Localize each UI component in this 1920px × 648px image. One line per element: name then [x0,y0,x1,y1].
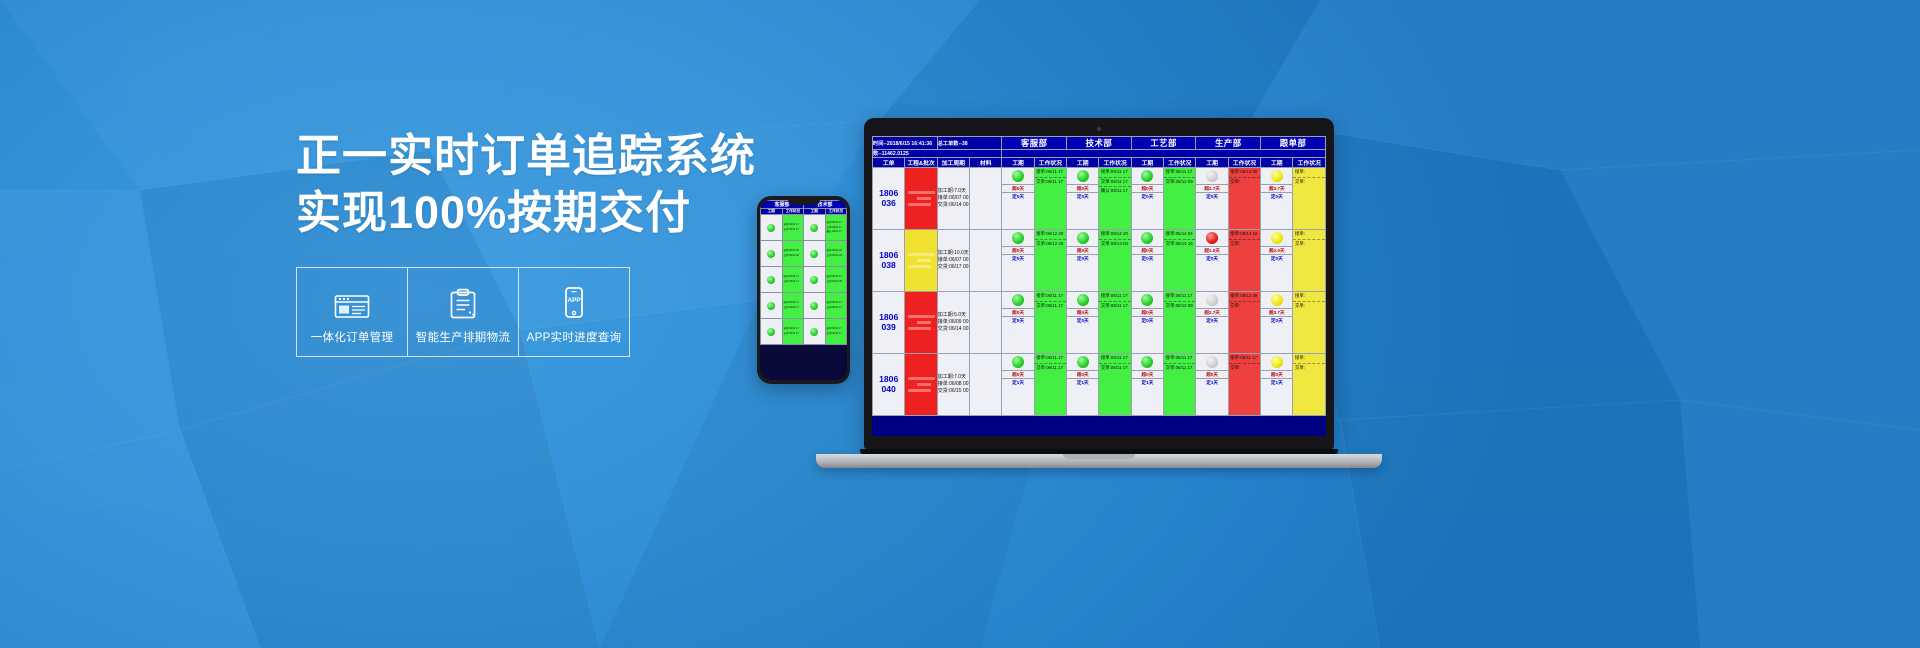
project-text-redacted [905,311,937,334]
dept-2-status-cell[interactable]: 接单:06/14 04交单:06/14 16 [1164,230,1196,292]
status-indicator-green [767,224,775,232]
received-date: 接单:06/07 00 [938,195,969,202]
feature-list: 一体化订单管理 智能生产排期物流 APP [296,267,766,357]
processing-cycle-cell: 加工期:7.0天接单:06/07 00交货:06/14 00 [937,168,969,230]
phone-dept-1-status-cell[interactable]: 接单:06/11 17交单:06/11 17 [825,293,847,319]
project-batch-cell [905,292,937,354]
status-line-0: 接单:06/11 17 [1099,354,1130,363]
dept-0-duration-cell[interactable]: 超0天定0天 [1002,168,1034,230]
overdue-label: 超2.7天 [1196,308,1227,316]
status-indicator-green [1012,170,1024,182]
fixed-label: 定1天 [1261,378,1292,386]
phone-dept-0-duration-cell[interactable] [761,241,783,267]
table-row[interactable]: 1806039加工期:5.0天接单:06/09 00交货:06/14 00超0天… [873,292,1326,354]
feature-app-progress-query[interactable]: APP APP实时进度查询 [518,267,630,357]
page-title: 正一实时订单追踪系统 实现100%按期交付 [296,128,766,241]
phone-dept-0-status-cell[interactable]: 接单:06/11 17交单:06/11 17 [782,293,804,319]
status-line-1: 交单: [1229,301,1260,311]
dept-1-status-cell[interactable]: 接单:06/11 17交单:06/11 17确认:06/11 17 [1099,168,1131,230]
phone-table-body[interactable]: 接单:06/11 17交单:06/11 17接单:06/11 17交单:06/1… [761,215,847,345]
dept-2-status-cell[interactable]: 接单:06/11 17交单:06/11 17 [1164,354,1196,416]
dept-0-status-cell[interactable]: 接单:06/11 17交单:06/11 17 [1034,354,1066,416]
received-date: 接单:06/08 00 [938,381,969,388]
dashboard-time: 时间--2018/6/15 16:41:36 [873,137,938,150]
table-row[interactable]: 1806036加工期:7.0天接单:06/07 00交货:06/14 00超0天… [873,168,1326,230]
dept-0-duration-cell[interactable]: 超0天定1天 [1002,354,1034,416]
status-line-1: 交单:06/12 09 [1164,301,1195,311]
overdue-label: 超0天 [1132,184,1163,192]
status-line-0: 接单:06/11 17 [1099,292,1130,301]
order-number-cell: 1806036 [873,168,905,230]
dept-4-duration-cell[interactable]: 超3.7天定0天 [1261,292,1293,354]
overdue-label: 超3.7天 [1261,184,1292,192]
dept-header-2: 工艺部 [1131,137,1196,150]
dept-0-col-1: 工作状况 [1034,158,1066,168]
dept-3-status-cell[interactable]: 接单:06/12 09交单: [1228,292,1260,354]
status-line-0: 接单:06/12 20 [1099,230,1130,239]
status-indicator-green [810,302,818,310]
status-line-1: 交单:06/14 04 [1099,239,1130,249]
phone-status-line-1: 交单:06/11 17 [783,306,804,311]
dept-3-status-cell[interactable]: 接单:06/11 17交单: [1228,354,1260,416]
dashboard-subheader-row: 工单工程&批次加工周期材料工期工作状况工期工作状况工期工作状况工期工作状况工期工… [873,158,1326,168]
status-line-1: 交单:06/12 20 [1035,239,1066,249]
status-line-0: 接单:06/11 17 [1035,354,1066,363]
dept-1-duration-cell[interactable]: 超0天定0天 [1067,230,1099,292]
status-line-0: 接单:06/11 17 [1099,168,1130,177]
status-indicator-gray [1206,294,1218,306]
phone-dept-0-status-cell[interactable]: 接单:06/11 17交单:06/11 17 [782,215,804,241]
order-no-bottom: 036 [873,199,904,208]
status-line-0: 接单:06/14 04 [1164,230,1195,239]
phone-dept-1-duration-cell[interactable] [804,267,826,293]
cycle-days: 加工期:7.0天 [938,374,969,381]
dept-header-0: 客服部 [1002,137,1067,150]
browser-window-icon [334,280,370,320]
dept-1-duration-cell[interactable]: 超0天定1天 [1067,354,1099,416]
dept-header-3: 生产部 [1196,137,1261,150]
headline-line-2: 实现100%按期交付 [296,185,766,242]
fixed-label: 定1天 [1132,378,1163,386]
fixed-label: 定0天 [1261,254,1292,262]
dept-2-status-cell[interactable]: 接单:06/11 17交单:06/12 09 [1164,292,1196,354]
overdue-label: 超0天 [1132,370,1163,378]
phone-table-row[interactable]: 接单:06/11 17交单:06/11 17接单:06/11 17交单:06/1… [761,215,847,241]
status-line-0: 接单:06/12 20 [1035,230,1066,239]
status-indicator-green [1141,294,1153,306]
phone-dept-1-duration-cell[interactable] [804,241,826,267]
fixed-label: 定0天 [1261,192,1292,200]
dept-4-duration-cell[interactable]: 超3.7天定0天 [1261,168,1293,230]
status-line-0: 接单: [1293,168,1325,177]
phone-dept-1-duration-cell[interactable] [804,215,826,241]
dept-2-col-1: 工作状况 [1164,158,1196,168]
fixed-label: 定0天 [1067,316,1098,324]
fixed-label: 定0天 [1196,254,1227,262]
status-indicator-yellow [1271,356,1283,368]
laptop-base [816,454,1382,468]
dept-1-col-1: 工作状况 [1099,158,1131,168]
fixed-label: 定1天 [1002,378,1033,386]
dept-0-duration-cell[interactable]: 超0天定0天 [1002,230,1034,292]
project-text-redacted [905,373,937,396]
phone-dept-0-duration-cell[interactable] [761,319,783,345]
phone-dept-1-status-cell[interactable]: 接单:06/12 20交单:06/14 04 [825,241,847,267]
phone-status-line-1: 交单:06/12 20 [783,254,804,259]
dept-0-col-0: 工期 [1002,158,1034,168]
laptop-screen[interactable]: 时间--2018/6/15 16:41:36 总工单数--38 客服部 技术部 … [872,136,1326,436]
status-line-1: 交单:06/11 17 [1164,363,1195,373]
dept-0-status-cell[interactable]: 接单:06/12 20交单:06/12 20 [1034,230,1066,292]
dept-4-duration-cell[interactable]: 超0天定1天 [1261,354,1293,416]
status-line-0: 接单: [1293,292,1325,301]
dashboard-meta-row-2: 数--11462.0125 [873,150,1326,158]
status-indicator-green [1077,232,1089,244]
status-indicator-yellow [1271,170,1283,182]
status-line-0: 接单: [1293,354,1325,363]
dashboard-total: 总工单数--38 [937,137,1002,150]
fixed-label: 定1天 [1067,378,1098,386]
dashboard-meta-row: 时间--2018/6/15 16:41:36 总工单数--38 客服部 技术部 … [873,137,1326,150]
delivery-date: 交货:06/15 00 [938,388,969,395]
dept-2-duration-cell[interactable]: 超0天定0天 [1131,168,1163,230]
phone-status-line-1: 交单:06/11 17 [826,332,847,337]
fixed-label: 定0天 [1132,316,1163,324]
overdue-label: 超0天 [1196,370,1227,378]
status-indicator-yellow [1271,232,1283,244]
order-no-bottom: 040 [873,385,904,394]
phone-dept-0-status-cell[interactable]: 接单:06/11 17交单:06/11 17 [782,319,804,345]
fixed-label: 定0天 [1196,316,1227,324]
dept-3-col-1: 工作状况 [1228,158,1260,168]
overdue-label: 超3.7天 [1261,308,1292,316]
status-indicator-green [1012,356,1024,368]
status-indicator-yellow [1271,294,1283,306]
project-batch-cell [905,230,937,292]
status-line-1: 交单: [1293,301,1325,311]
phone-dept-0-duration-cell[interactable] [761,267,783,293]
delivery-date: 交货:06/14 00 [938,326,969,333]
status-line-0: 接单:06/14 16 [1229,230,1260,239]
overdue-label: 超0天 [1067,184,1098,192]
status-line-0: 接单:06/11 17 [1229,354,1260,363]
dept-4-status-cell[interactable]: 接单:交单: [1293,230,1326,292]
status-line-0: 接单:06/11 17 [1164,168,1195,177]
received-date: 接单:06/07 00 [938,257,969,264]
status-indicator-green [1141,170,1153,182]
dept-1-status-cell[interactable]: 接单:06/11 17交单:06/11 17 [1099,292,1131,354]
feature-production-scheduling[interactable]: 智能生产排期物流 [407,267,518,357]
phone-dept-0-status-cell[interactable]: 接单:06/11 17交单:06/11 17 [782,267,804,293]
phone-dept-0-status-cell[interactable]: 接单:06/12 20交单:06/12 20 [782,241,804,267]
table-row[interactable]: 1806040加工期:7.0天接单:06/08 00交货:06/15 00超0天… [873,354,1326,416]
phone-dept-1-status-cell[interactable]: 接单:06/11 17交单:06/11 17 [825,319,847,345]
status-line-1: 交单: [1229,363,1260,373]
dept-4-status-cell[interactable]: 接单:交单: [1293,168,1326,230]
status-line-1: 交单:06/11 17 [1099,301,1130,311]
status-line-1: 交单:06/11 17 [1035,363,1066,373]
dept-3-duration-cell[interactable]: 超2.7天定0天 [1196,168,1228,230]
status-line-2: 确认:06/11 17 [1099,186,1130,196]
phone-status-line-1: 交单:06/12 09 [826,280,847,285]
status-line-1: 交单: [1293,239,1325,249]
order-number-cell: 1806039 [873,292,905,354]
project-text-redacted [905,249,937,272]
status-indicator-green [767,328,775,336]
overdue-label: 超0天 [1002,184,1033,192]
processing-cycle-cell: 加工期:5.0天接单:06/09 00交货:06/14 00 [937,292,969,354]
overdue-label: 超2.0天 [1261,246,1292,254]
overdue-label: 超0天 [1067,246,1098,254]
dept-4-status-cell[interactable]: 接单:交单: [1293,354,1326,416]
dept-1-status-cell[interactable]: 接单:06/12 20交单:06/14 04 [1099,230,1131,292]
phone-status-line-1: 交单:06/11 17 [783,280,804,285]
delivery-date: 交货:06/14 00 [938,202,969,209]
status-line-0: 接单:06/11 17 [1035,168,1066,177]
dept-2-duration-cell[interactable]: 超0天定0天 [1131,292,1163,354]
fixed-label: 定0天 [1196,192,1227,200]
dept-2-duration-cell[interactable]: 超0天定1天 [1131,354,1163,416]
dept-0-status-cell[interactable]: 接单:06/11 17交单:06/11 17 [1034,292,1066,354]
phone-table-row[interactable]: 接单:06/12 20交单:06/12 20接单:06/12 20交单:06/1… [761,241,847,267]
dept-3-col-0: 工期 [1196,158,1228,168]
processing-cycle-cell: 加工期:7.0天接单:06/08 00交货:06/15 00 [937,354,969,416]
order-no-bottom: 038 [873,261,904,270]
delivery-date: 交货:06/17 00 [938,264,969,271]
fixed-label: 定0天 [1067,192,1098,200]
laptop-lid: 时间--2018/6/15 16:41:36 总工单数--38 客服部 技术部 … [864,118,1334,449]
status-line-1: 交单:06/11 17 [1099,177,1130,187]
phone-dept-1-duration-cell[interactable] [804,319,826,345]
phone-table-row[interactable]: 接单:06/11 17交单:06/11 17接单:06/11 17交单:06/1… [761,319,847,345]
phone-dept-0-duration-cell[interactable] [761,215,783,241]
dept-4-status-cell[interactable]: 接单:交单: [1293,292,1326,354]
phone-table-row[interactable]: 接单:06/11 17交单:06/11 17接单:06/11 17交单:06/1… [761,267,847,293]
dept-1-status-cell[interactable]: 接单:06/11 17交单:06/11 17 [1099,354,1131,416]
phone-status-line-1: 交单:06/11 17 [783,228,804,233]
dept-1-duration-cell[interactable]: 超0天定0天 [1067,292,1099,354]
received-date: 接单:06/09 00 [938,319,969,326]
phone-screen[interactable]: 客服部 技术部 工期 工作状况 工期 工作状况 接单:06/11 17交单:06… [760,200,847,380]
status-line-1: 交单:06/11 17 [1035,177,1066,187]
overdue-label: 超0天 [1132,308,1163,316]
fixed-label: 定0天 [1132,192,1163,200]
headline-line-1: 正一实时订单追踪系统 [296,128,766,185]
status-line-1: 交单:06/14 16 [1164,239,1195,249]
overdue-label: 超0天 [1002,308,1033,316]
project-batch-cell [905,168,937,230]
fixed-label: 定0天 [1002,254,1033,262]
status-indicator-green [810,250,818,258]
phone-status-line-1: 交单:06/11 17 [783,332,804,337]
phone-dept-1-duration-cell[interactable] [804,293,826,319]
phone-notch [788,200,820,205]
status-line-1: 交单: [1293,177,1325,187]
dept-4-col-0: 工期 [1261,158,1293,168]
dept-3-duration-cell[interactable]: 超2.7天定0天 [1196,292,1228,354]
status-indicator-red [1206,232,1218,244]
table-row[interactable]: 1806038加工期:10.0天接单:06/07 00交货:06/17 00超0… [873,230,1326,292]
status-indicator-green [1141,356,1153,368]
status-indicator-green [810,276,818,284]
fixed-label: 定0天 [1261,316,1292,324]
phone-dept-0-duration-cell[interactable] [761,293,783,319]
phone-status-line-2: 确认:06/11 17 [826,230,847,235]
dept-2-duration-cell[interactable]: 超0天定0天 [1131,230,1163,292]
overdue-label: 超0天 [1132,246,1163,254]
col-header-2: 加工周期 [937,158,969,168]
status-line-1: 交单:06/12 09 [1164,177,1195,187]
status-indicator-green [810,328,818,336]
status-indicator-gray [1206,356,1218,368]
dashboard-table-head: 时间--2018/6/15 16:41:36 总工单数--38 客服部 技术部 … [873,137,1326,168]
phone-table-row[interactable]: 接单:06/11 17交单:06/11 17接单:06/11 17交单:06/1… [761,293,847,319]
overdue-label: 超0天 [1261,370,1292,378]
project-batch-cell [905,354,937,416]
clipboard-icon [448,280,478,320]
svg-text:APP: APP [567,297,581,304]
status-line-1: 交单: [1229,177,1260,187]
laptop-mockup: 时间--2018/6/15 16:41:36 总工单数--38 客服部 技术部 … [864,118,1334,468]
dashboard-table-body[interactable]: 1806036加工期:7.0天接单:06/07 00交货:06/14 00超0天… [873,168,1326,416]
dept-2-status-cell[interactable]: 接单:06/11 17交单:06/12 09 [1164,168,1196,230]
dept-1-col-0: 工期 [1067,158,1099,168]
status-line-1: 交单: [1293,363,1325,373]
dept-4-duration-cell[interactable]: 超2.0天定0天 [1261,230,1293,292]
dept-header-4: 跟单部 [1261,137,1326,150]
overdue-label: 超1.0天 [1196,246,1227,254]
col-header-1: 工程&批次 [905,158,937,168]
status-indicator-green [767,250,775,258]
dept-3-duration-cell[interactable]: 超0天定1天 [1196,354,1228,416]
material-cell [970,354,1002,416]
status-line-0: 接单:06/11 17 [1035,292,1066,301]
feature-label: 智能生产排期物流 [416,329,510,345]
dept-0-duration-cell[interactable]: 超0天定0天 [1002,292,1034,354]
phone-status-line-1: 交单:06/14 04 [826,254,847,259]
fixed-label: 定0天 [1132,254,1163,262]
phone-status-line-1: 交单:06/11 17 [826,306,847,311]
status-indicator-green [1077,356,1089,368]
material-cell [970,168,1002,230]
phone-dept-1-status-cell[interactable]: 接单:06/11 17交单:06/12 09 [825,267,847,293]
overdue-label: 超0天 [1002,370,1033,378]
fixed-label: 定0天 [1002,192,1033,200]
status-line-1: 交单: [1229,239,1260,249]
status-indicator-green [767,302,775,310]
phone-dept-1-status-cell[interactable]: 接单:06/11 17交单:06/11 17确认:06/11 17 [825,215,847,241]
dept-4-col-1: 工作状况 [1293,158,1326,168]
phone-dashboard-table[interactable]: 客服部 技术部 工期 工作状况 工期 工作状况 接单:06/11 17交单:06… [760,200,847,345]
webcam-icon [1097,127,1101,131]
dept-2-col-0: 工期 [1131,158,1163,168]
dept-3-duration-cell[interactable]: 超1.0天定0天 [1196,230,1228,292]
dept-header-spacer [1002,150,1326,158]
order-no-bottom: 039 [873,323,904,332]
feature-label: APP实时进度查询 [527,329,622,345]
status-indicator-green [1012,294,1024,306]
status-indicator-green [810,224,818,232]
status-line-0: 接单:06/12 09 [1229,168,1260,177]
order-number-cell: 1806038 [873,230,905,292]
processing-cycle-cell: 加工期:10.0天接单:06/07 00交货:06/17 00 [937,230,969,292]
feature-label: 一体化订单管理 [311,329,394,345]
dept-3-status-cell[interactable]: 接单:06/12 09交单: [1228,168,1260,230]
dept-header-1: 技术部 [1067,137,1132,150]
status-indicator-green [1012,232,1024,244]
dept-0-status-cell[interactable]: 接单:06/11 17交单:06/11 17 [1034,168,1066,230]
status-indicator-green [767,276,775,284]
fixed-label: 定0天 [1002,316,1033,324]
status-line-0: 接单:06/11 17 [1164,354,1195,363]
fixed-label: 定1天 [1196,378,1227,386]
fixed-label: 定0天 [1067,254,1098,262]
cycle-days: 加工期:10.0天 [938,250,969,257]
status-indicator-green [1077,170,1089,182]
hero-copy: 正一实时订单追踪系统 实现100%按期交付 一体化订单管理 [296,128,766,357]
status-line-0: 接单:06/11 17 [1164,292,1195,301]
overdue-label: 超0天 [1067,370,1098,378]
status-line-1: 交单:06/11 17 [1099,363,1130,373]
smartphone-mockup: 客服部 技术部 工期 工作状况 工期 工作状况 接单:06/11 17交单:06… [757,196,850,384]
dept-1-duration-cell[interactable]: 超0天定0天 [1067,168,1099,230]
status-indicator-green [1141,232,1153,244]
status-indicator-gray [1206,170,1218,182]
feature-order-management[interactable]: 一体化订单管理 [296,267,407,357]
dept-3-status-cell[interactable]: 接单:06/14 16交单: [1228,230,1260,292]
cycle-days: 加工期:7.0天 [938,188,969,195]
col-header-0: 工单 [873,158,905,168]
overdue-label: 超0天 [1002,246,1033,254]
status-line-0: 接单:06/12 09 [1229,292,1260,301]
mobile-app-icon: APP [561,280,587,320]
dashboard-table[interactable]: 时间--2018/6/15 16:41:36 总工单数--38 客服部 技术部 … [872,136,1326,416]
project-text-redacted [905,187,937,210]
cycle-days: 加工期:5.0天 [938,312,969,319]
overdue-label: 超2.7天 [1196,184,1227,192]
col-header-3: 材料 [970,158,1002,168]
status-indicator-green [1077,294,1089,306]
overdue-label: 超0天 [1067,308,1098,316]
status-line-1: 交单:06/11 17 [1035,301,1066,311]
material-cell [970,230,1002,292]
status-line-0: 接单: [1293,230,1325,239]
material-cell [970,292,1002,354]
order-number-cell: 1806040 [873,354,905,416]
dashboard-number: 数--11462.0125 [873,150,1002,158]
